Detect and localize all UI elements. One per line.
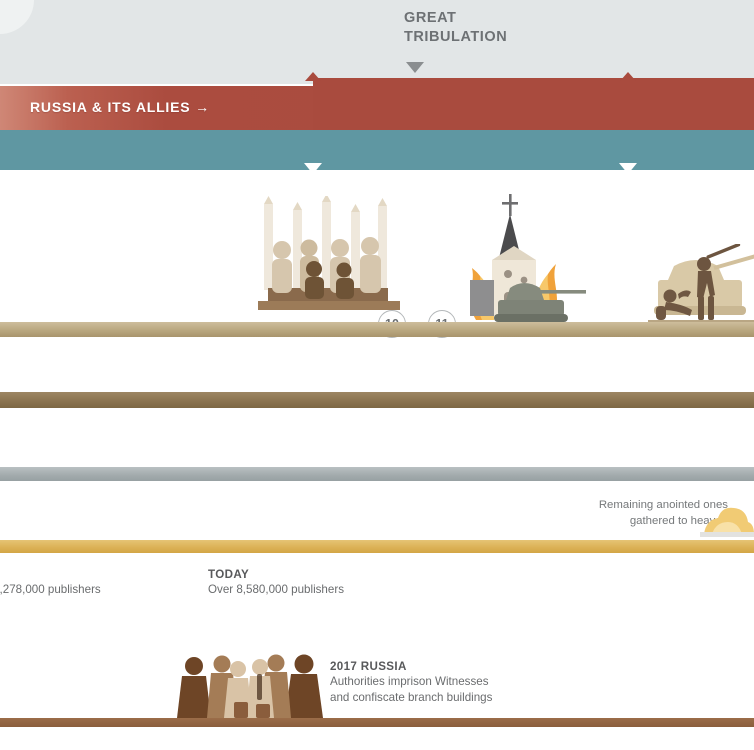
great-tribulation-line1: GREAT [404,9,634,28]
anointed-note-line2: gathered to heaven [488,514,728,530]
down-triangle-icon [406,62,424,73]
tan-rule-line [0,322,754,337]
band-notch-marker-1 [305,72,321,81]
teal-notch-marker-1 [304,163,322,174]
infographic-canvas: GREAT TRIBULATION RUSSIA & ITS ALLIES → [0,0,754,750]
event-line2: and confiscate branch buildings [330,690,590,706]
publishers-earlier-title: 1 [0,567,186,582]
tank-and-soldier-illustration [648,244,754,330]
event-title: 2017 RUSSIA [330,659,590,674]
ground-rule-line [0,718,754,727]
top-header-band [0,0,754,84]
anointed-note-line1: Remaining anointed ones [488,498,728,514]
burning-church-and-tank-illustration [448,188,598,328]
publishers-today-text: Over 8,580,000 publishers [208,582,438,598]
teal-notch-marker-2 [619,163,637,174]
publishers-earlier-text: r 4,278,000 publishers [0,582,186,598]
band-notch-marker-2 [620,72,636,81]
anointed-ones-note: Remaining anointed ones gathered to heav… [488,498,728,529]
russia-allies-label: RUSSIA & ITS ALLIES → [30,99,210,115]
group-of-witnesses-silhouette-illustration [176,648,326,720]
event-caption-russia-2017: 2017 RUSSIA Authorities imprison Witness… [330,659,590,705]
corner-decoration [0,0,34,34]
publishers-today-title: TODAY [208,567,438,582]
publishers-caption-earlier: 1 r 4,278,000 publishers [0,567,186,598]
gold-rule-line [0,540,754,553]
brown-rule-line [0,392,754,408]
great-tribulation-label: GREAT TRIBULATION [404,9,634,47]
great-tribulation-line2: TRIBULATION [404,28,634,47]
golden-cloud-illustration [700,500,754,540]
teal-band-left-segment [0,130,313,170]
publishers-caption-today: TODAY Over 8,580,000 publishers [208,567,438,598]
russia-band-step-segment [313,78,754,130]
gray-rule-line [0,467,754,481]
event-line1: Authorities imprison Witnesses [330,674,590,690]
group-of-people-on-platform-illustration [252,196,422,326]
